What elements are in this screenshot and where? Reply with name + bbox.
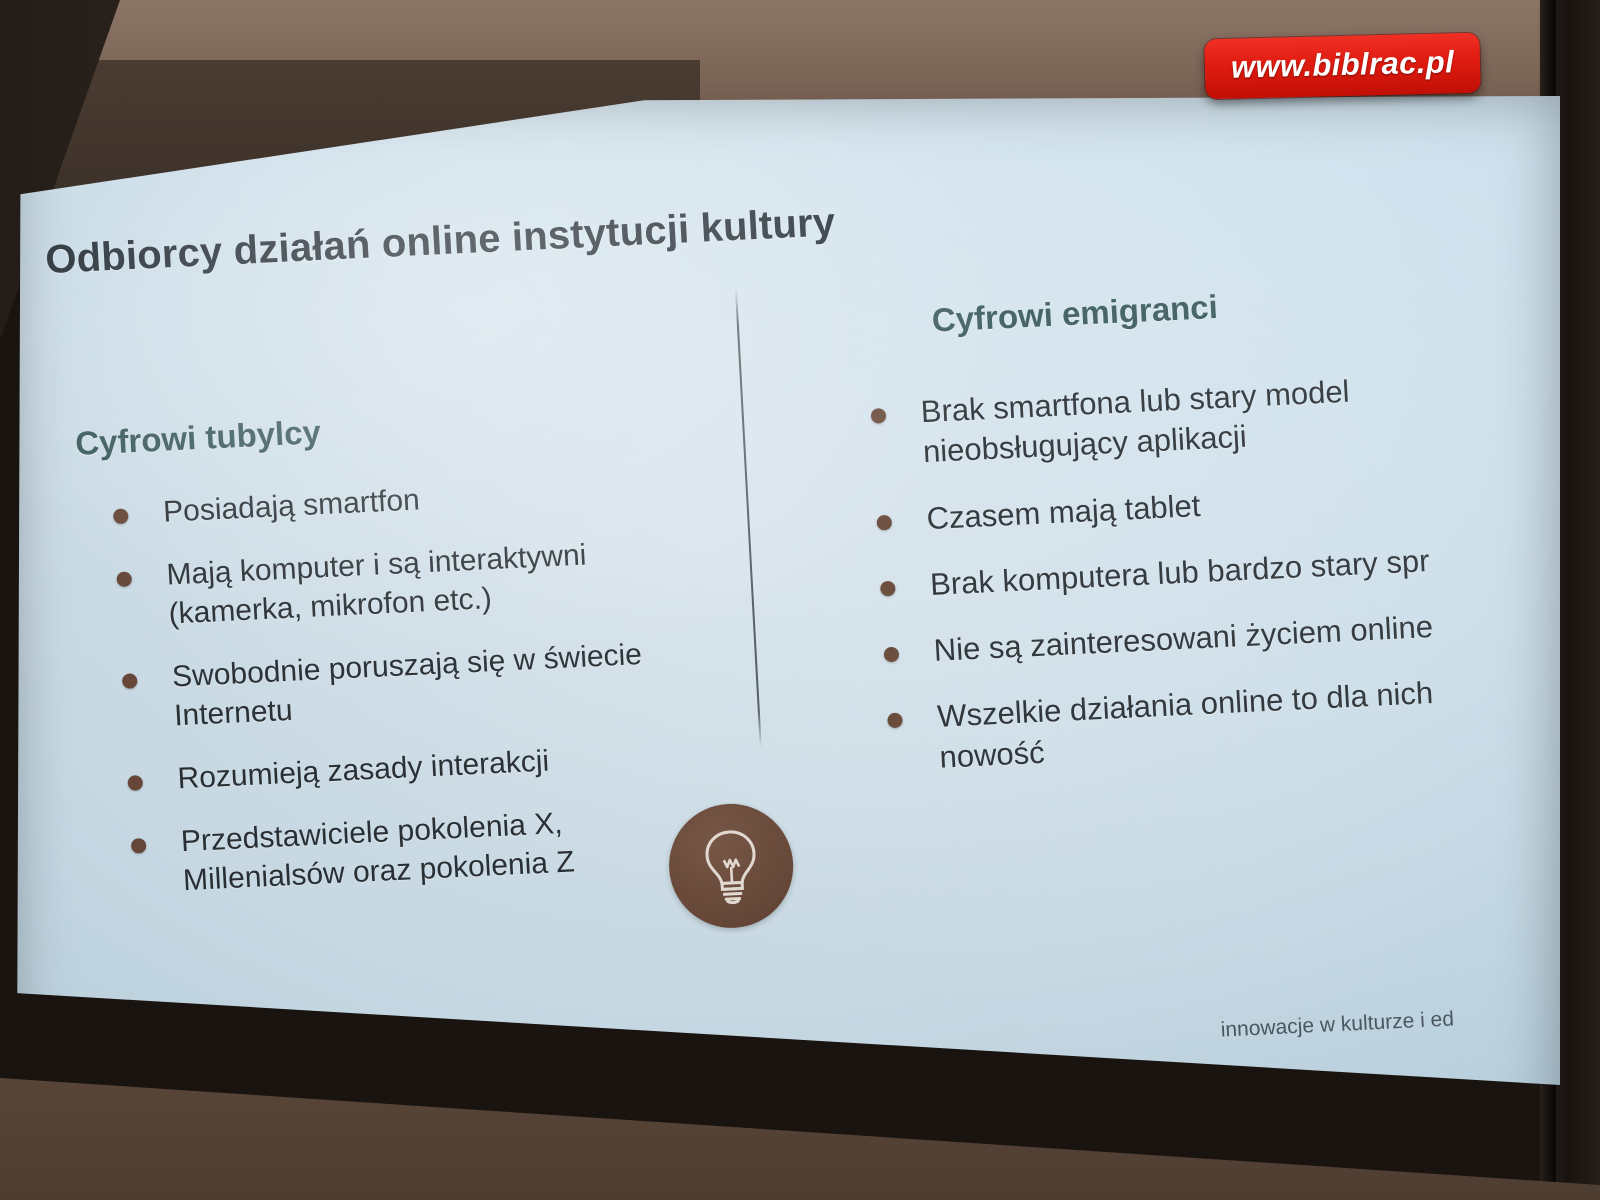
list-item-text: Brak smartfona lub stary model nieobsług… — [920, 374, 1350, 470]
bullet-dot-icon — [880, 581, 896, 597]
bullet-dot-icon — [871, 408, 887, 424]
list-item-text: Nie są zainteresowani życiem online — [933, 609, 1434, 668]
bullet-dot-icon — [113, 508, 129, 524]
list-item: Nie są zainteresowani życiem online — [875, 602, 1536, 674]
list-item: Wszelkie działania online to dla nich no… — [878, 668, 1542, 780]
bullet-dot-icon — [116, 571, 132, 587]
slide-title: Odbiorcy działań online instytucji kultu… — [44, 200, 836, 283]
bullet-dot-icon — [887, 713, 903, 729]
list-item-text: Wszelkie działania online to dla nich no… — [936, 676, 1434, 775]
list-item: Czasem mają tablet — [868, 470, 1529, 542]
bullet-dot-icon — [131, 838, 147, 854]
list-item: Brak smartfona lub stary model nieobsług… — [862, 363, 1526, 475]
list-item: Posiadają smartfon — [104, 467, 705, 535]
footer-tagline: innowacje w kulturze i ed — [1220, 1007, 1454, 1042]
bullet-list-digital-natives: Posiadają smartfon Mają komputer i są in… — [104, 467, 727, 927]
column-divider — [735, 288, 762, 747]
column-heading-digital-immigrants: Cyfrowi emigranci — [931, 288, 1219, 340]
column-heading-digital-natives: Cyfrowi tubylcy — [74, 413, 321, 463]
bullet-dot-icon — [876, 514, 892, 530]
bullet-list-digital-immigrants: Brak smartfona lub stary model nieobsług… — [862, 363, 1544, 806]
presentation-slide: Odbiorcy działań online instytucji kultu… — [0, 45, 1588, 1186]
list-item: Mają komputer i są interaktywni (kamerka… — [108, 530, 712, 637]
list-item: Rozumieją zasady interakcji — [119, 733, 720, 801]
list-item: Swobodnie poruszają się w świecie Intern… — [113, 632, 717, 739]
list-item-text: Posiadają smartfon — [162, 483, 420, 528]
list-item-text: Brak komputera lub bardzo stary spr — [929, 543, 1430, 602]
bullet-dot-icon — [884, 647, 900, 663]
biblrac-url-text: www.biblrac.pl — [1231, 44, 1455, 84]
logo-word-books: books — [749, 1035, 846, 1077]
bullet-dot-icon — [127, 775, 143, 791]
biblrac-url-badge: www.biblrac.pl — [1204, 33, 1481, 100]
bullet-dot-icon — [122, 673, 138, 689]
goodbooks-logo: good books — [630, 1031, 845, 1083]
logo-word-good: good — [631, 1041, 712, 1083]
list-item-text: Swobodnie poruszają się w świecie Intern… — [171, 638, 643, 732]
list-item-text: Czasem mają tablet — [926, 488, 1202, 536]
book-spines-icon — [711, 1035, 747, 1077]
list-item-text: Przedstawiciele pokolenia X, Millenialsó… — [180, 807, 575, 897]
list-item-text: Mają komputer i są interaktywni (kamerka… — [166, 539, 587, 631]
projection-screen: Odbiorcy działań online instytucji kultu… — [8, 96, 1560, 1164]
list-item: Brak komputera lub bardzo stary spr — [871, 536, 1532, 608]
list-item-text: Rozumieją zasady interakcji — [177, 745, 550, 796]
list-item: Przedstawiciele pokolenia X, Millenialsó… — [122, 796, 726, 903]
photo-of-projected-slide: Odbiorcy działań online instytucji kultu… — [0, 0, 1600, 1200]
lightbulb-icon — [697, 825, 765, 906]
